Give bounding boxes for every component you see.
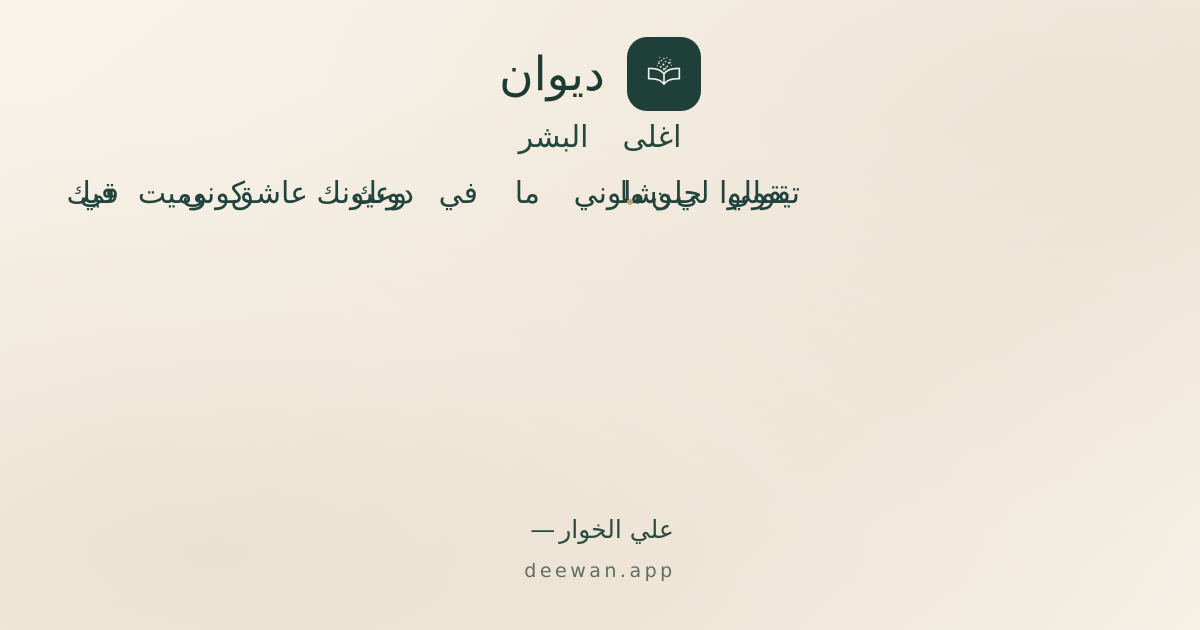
deewan-logo-tile (627, 37, 701, 111)
verse-word-feek: فيك (66, 166, 115, 222)
verse-word-fi-2: في (439, 166, 478, 222)
poem-title: اغلىالبشر (0, 118, 1200, 158)
verse-word-washluni: وشلوني (574, 166, 672, 222)
share-card: ديوان اغلىالبشر في كوني وعيونك ما حلن يق… (0, 0, 1200, 630)
verse-word-ma-2: ما (515, 166, 540, 222)
poem-verse-line: في كوني وعيونك ما حلن يقولوا لي تقولي وش… (0, 166, 1200, 222)
brand-name: ديوان (499, 51, 605, 98)
attribution-dash: — (526, 512, 559, 548)
accent-dot (627, 199, 633, 205)
open-book-sparkles-icon (641, 51, 687, 97)
verse-word-aashiq: عاشق (231, 166, 308, 222)
poem-title-word-1: اغلى (622, 118, 681, 158)
poem-title-word-2: البشر (519, 118, 589, 158)
verse-word-tiguli: تقولي (727, 166, 800, 222)
card-footer: علي الخوار— deewan.app (0, 512, 1200, 584)
poem-attribution: علي الخوار— (0, 512, 1200, 548)
site-url: deewan.app (0, 558, 1200, 584)
attribution-author: علي الخوار (559, 515, 674, 544)
brand-header: ديوان (0, 36, 1200, 112)
verse-word-wamayyit: وميت (138, 166, 207, 222)
verse-word-doonak: دونك (353, 166, 414, 222)
